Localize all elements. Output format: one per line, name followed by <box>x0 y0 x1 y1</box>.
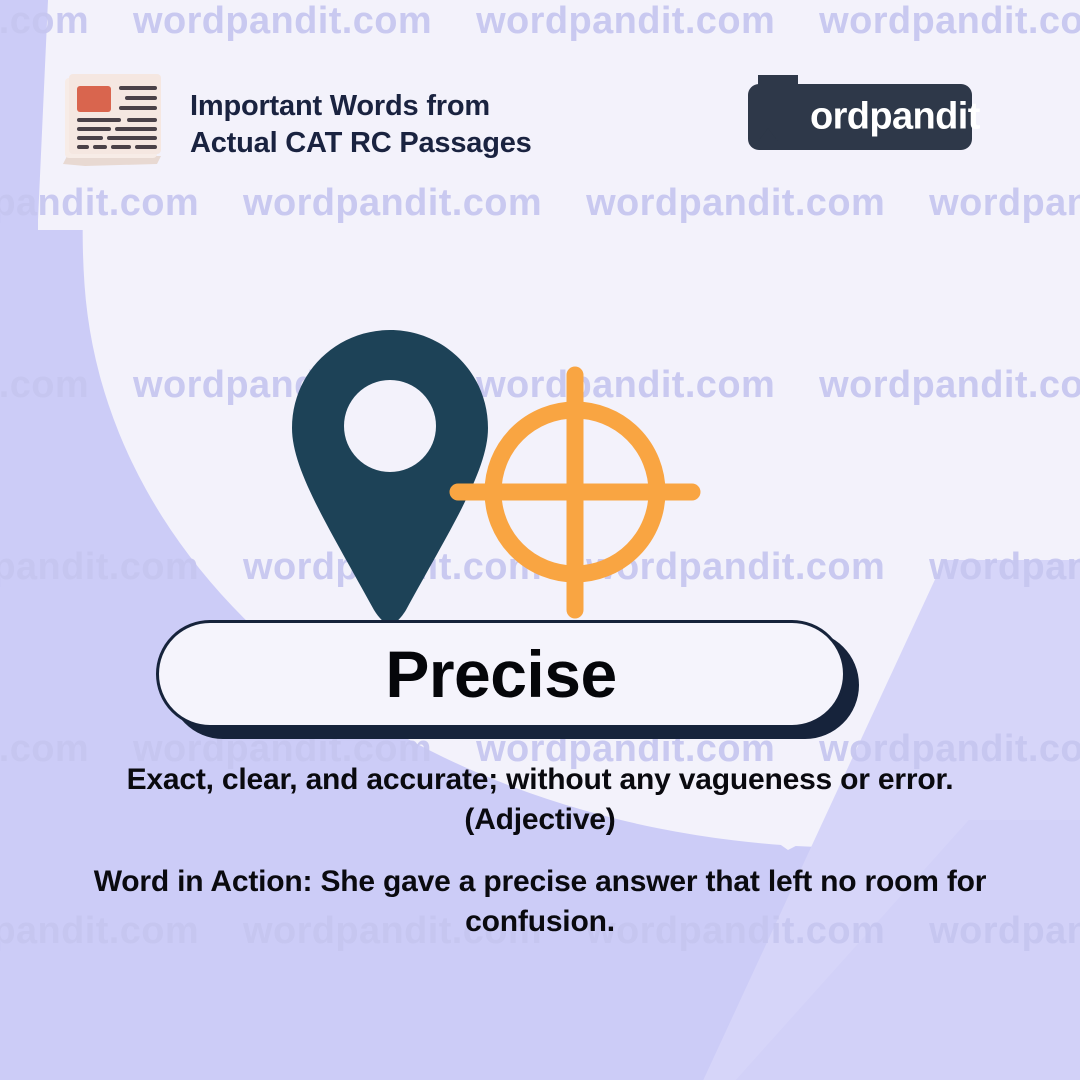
word-example: Word in Action: She gave a precise answe… <box>0 862 1080 943</box>
word-card: Precise <box>156 620 862 742</box>
card-header: Important Words from Actual CAT RC Passa… <box>0 0 1080 190</box>
header-title-line-2: Actual CAT RC Passages <box>190 125 610 162</box>
meaning-block: Exact, clear, and accurate; without any … <box>0 760 1080 943</box>
part-of-speech: (Adjective) <box>0 800 1080 840</box>
word-term: Precise <box>385 641 616 707</box>
logo-text: ordpandit <box>810 96 980 139</box>
newspaper-icon <box>55 72 173 168</box>
word-illustration <box>270 320 710 640</box>
word-card-box: Precise <box>156 620 846 728</box>
header-title-line-1: Important Words from <box>190 88 610 125</box>
vocabulary-flashcard: wordpandit.comwordpandit.comwordpandit.c… <box>0 0 1080 1080</box>
header-title: Important Words from Actual CAT RC Passa… <box>190 88 610 162</box>
map-pin-icon <box>292 330 488 626</box>
bookmark-w-icon <box>756 75 812 159</box>
crosshair-target-icon <box>458 375 692 610</box>
word-definition: Exact, clear, and accurate; without any … <box>0 760 1080 800</box>
wordpandit-logo[interactable]: ordpandit <box>748 84 972 150</box>
